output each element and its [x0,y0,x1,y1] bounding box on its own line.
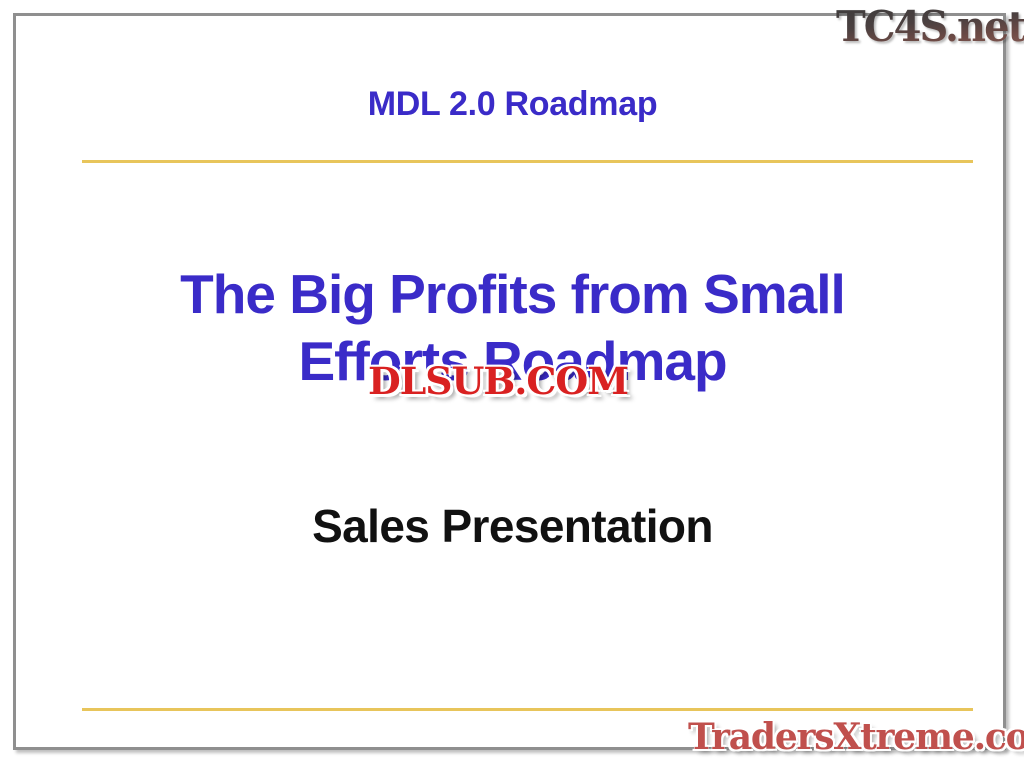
slide-root: MDL 2.0 Roadmap The Big Profits from Sma… [0,0,1024,768]
subtitle: Sales Presentation [16,499,1009,554]
headline-line-2: Efforts Roadmap [16,328,1009,395]
slide-frame: MDL 2.0 Roadmap The Big Profits from Sma… [13,13,1006,750]
page-title: MDL 2.0 Roadmap [16,84,1009,125]
headline: The Big Profits from Small Efforts Roadm… [16,261,1009,395]
divider-rule-top [82,160,973,163]
divider-rule-bottom [82,708,973,711]
headline-line-1: The Big Profits from Small [16,261,1009,328]
